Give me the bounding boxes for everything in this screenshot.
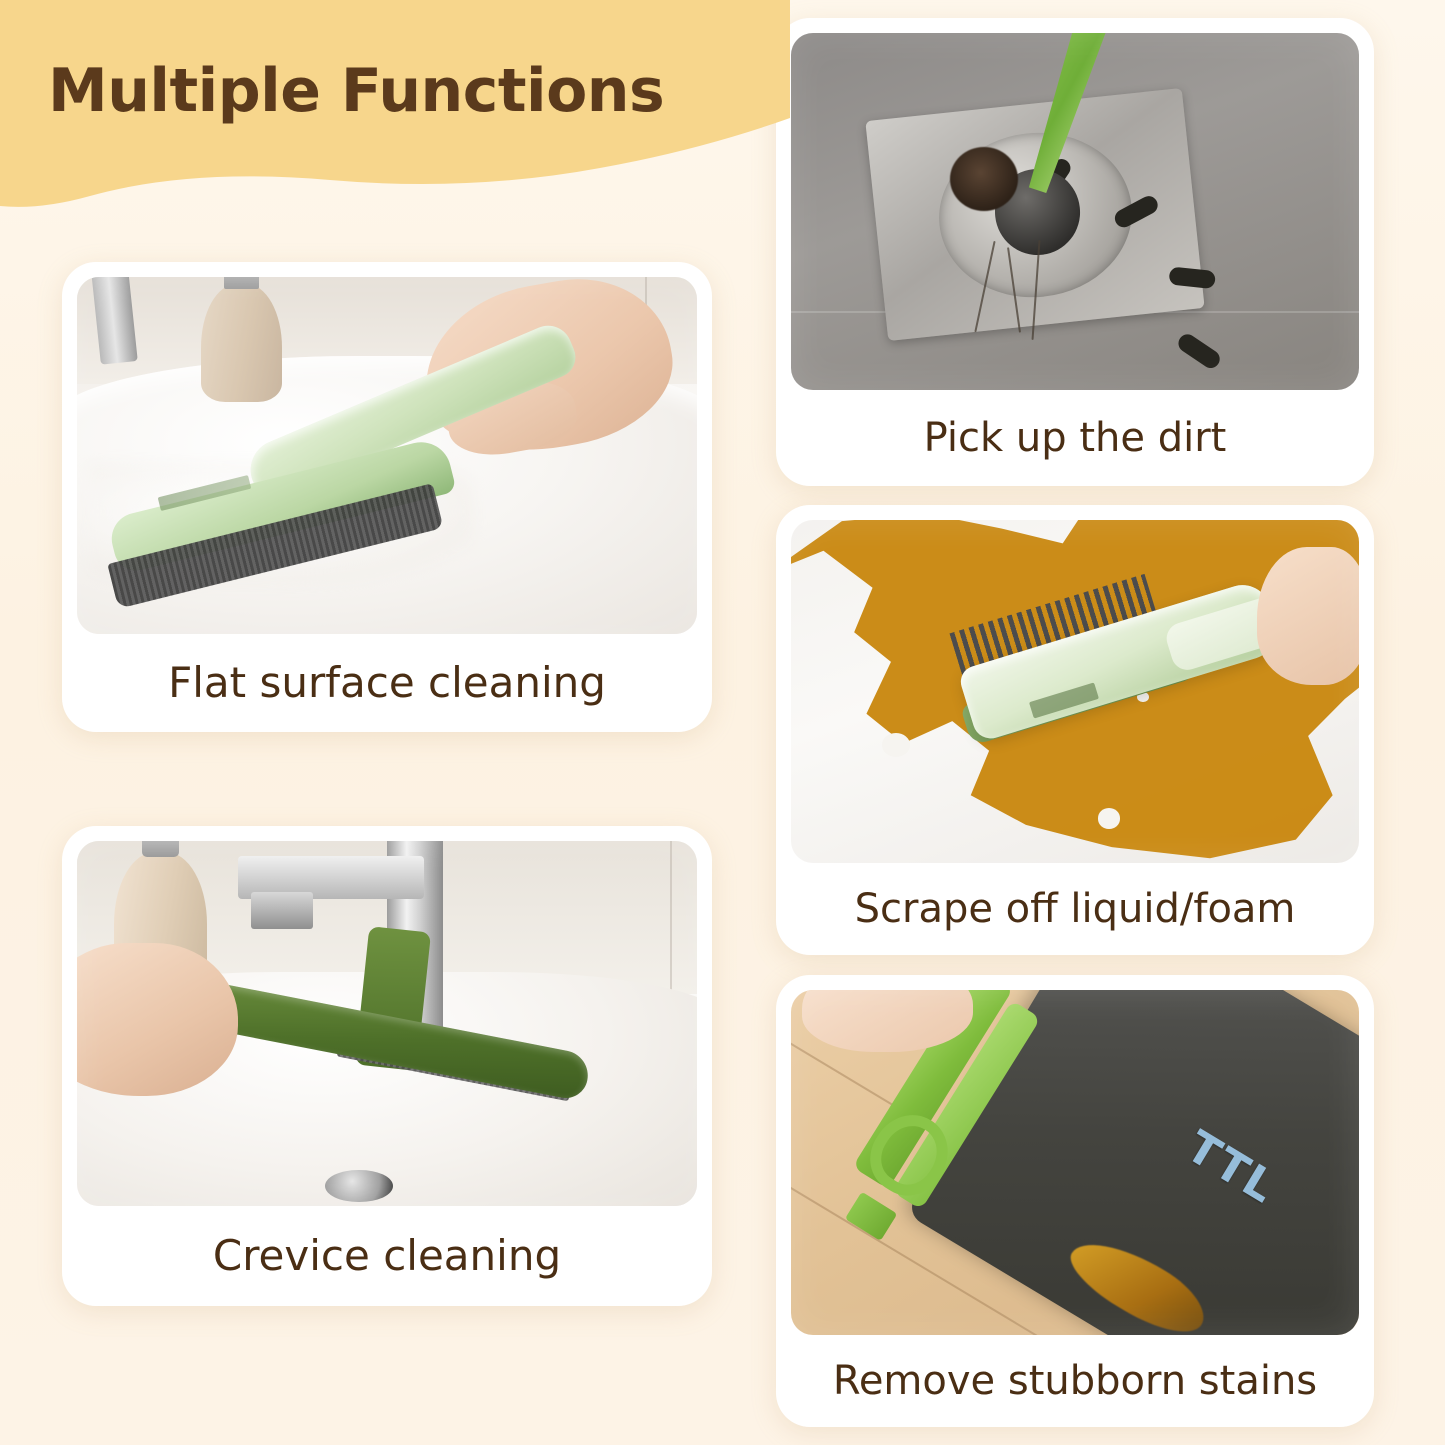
photo-remove-stains: TTL [791,990,1359,1335]
caption-scrape-liquid: Scrape off liquid/foam [791,863,1359,955]
caption-pick-up-dirt: Pick up the dirt [791,390,1359,486]
caption-flat-surface: Flat surface cleaning [77,634,697,732]
scene-remove-stains: TTL [791,990,1359,1335]
card-scrape-liquid[interactable]: Scrape off liquid/foam [776,505,1374,955]
card-crevice-cleaning[interactable]: Crevice cleaning [62,826,712,1306]
scene-scrape-liquid [791,520,1359,863]
scraper-tip [845,1192,898,1242]
card-pick-up-dirt[interactable]: Pick up the dirt [776,18,1374,486]
scene-flat-surface [77,277,697,634]
hand [1257,547,1359,684]
drain-slot [1175,330,1224,371]
photo-scrape-liquid [791,520,1359,863]
spill-hole [882,733,910,757]
photo-flat-surface [77,277,697,634]
photo-pick-up-dirt [791,33,1359,390]
card-remove-stains[interactable]: TTL Remove stubborn stains [776,975,1374,1427]
scene-crevice-cleaning [77,841,697,1206]
caption-remove-stains: Remove stubborn stains [791,1335,1359,1427]
caption-crevice-cleaning: Crevice cleaning [77,1206,697,1306]
faucet-aerator [251,892,313,929]
sink-drain [325,1170,393,1203]
infographic-root: Multiple Functions Flat surface cleaning [0,0,1445,1445]
soap-dispenser [201,284,282,402]
photo-crevice-cleaning [77,841,697,1206]
drain-slot [913,389,954,390]
spill-hole [1098,808,1121,829]
scene-pick-up-dirt [791,33,1359,390]
page-title: Multiple Functions [48,56,664,126]
card-flat-surface[interactable]: Flat surface cleaning [62,262,712,732]
